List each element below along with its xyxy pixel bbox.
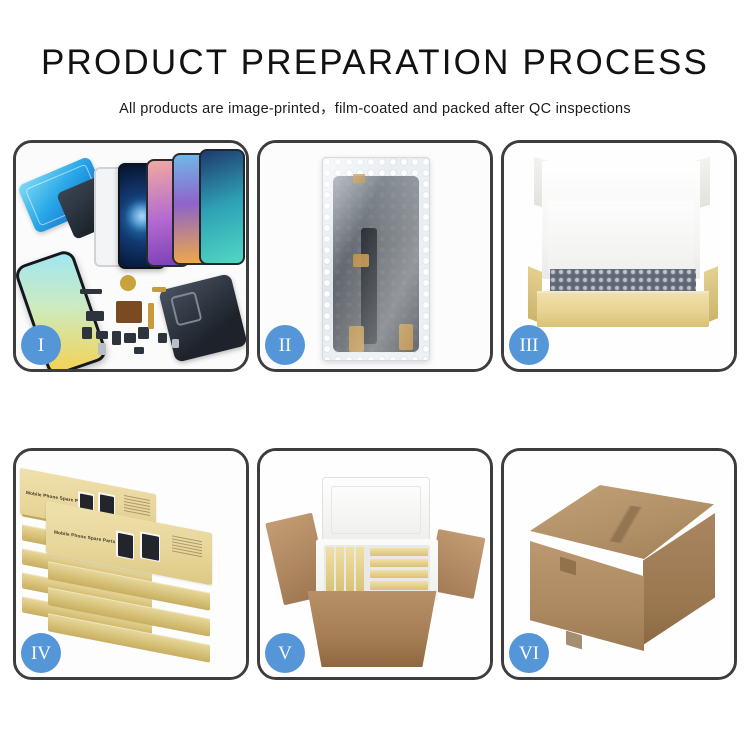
page-title: PRODUCT PREPARATION PROCESS [0,45,750,80]
process-step-1[interactable]: I [13,140,249,372]
step-badge-3: III [509,325,549,365]
process-step-2[interactable]: II [257,140,493,372]
foam-box-lid [322,477,430,543]
step-badge-2: II [265,325,305,365]
step-badge-6: VI [509,633,549,673]
process-step-grid: I II [13,140,737,680]
carton-body [302,591,442,667]
phone-screen-teal [199,149,245,265]
process-step-4[interactable]: Mobile Phone Spare Parts Mobile Phone Sp… [13,448,249,680]
carton-front-face [530,541,644,651]
process-step-3[interactable]: III [501,140,737,372]
step-badge-4: IV [21,633,61,673]
box-front-panel [537,295,709,327]
step-badge-5: V [265,633,305,673]
process-step-5[interactable]: V [257,448,493,680]
plastic-sheen [323,158,429,360]
spare-parts-cluster [80,275,190,361]
box-label-front: Mobile Phone Spare Parts [54,529,116,544]
page-subtitle: All products are image-printed，film-coat… [0,97,750,118]
foam-sheet [548,201,694,273]
product-preparation-infographic: PRODUCT PREPARATION PROCESS All products… [0,0,750,750]
step-badge-1: I [21,325,61,365]
process-step-6[interactable]: VI [501,448,737,680]
header: PRODUCT PREPARATION PROCESS All products… [0,0,750,118]
bubble-wrap-pouch [322,157,430,361]
foam-box-cavity [324,545,430,593]
